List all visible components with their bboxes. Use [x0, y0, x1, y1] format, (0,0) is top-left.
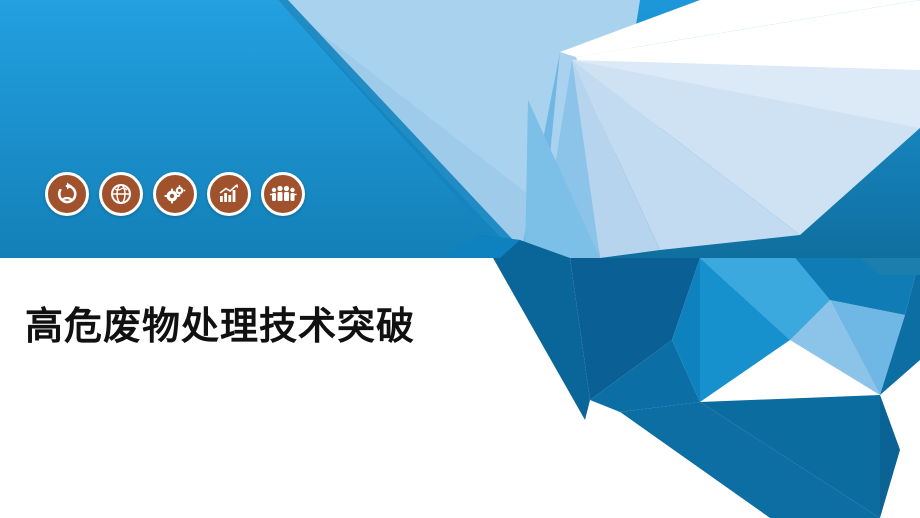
people-group-icon[interactable] [261, 172, 305, 216]
low-poly-background [0, 0, 920, 518]
globe-icon[interactable] [99, 172, 143, 216]
presentation-slide: 数智创新 变革未来 [0, 0, 920, 518]
page-title: 高危废物处理技术突破 [25, 295, 415, 350]
bar-chart-growth-icon[interactable] [207, 172, 251, 216]
recycle-arrow-icon[interactable] [45, 172, 89, 216]
slide-tagline: 数智创新 变革未来 [715, 27, 898, 57]
gears-icon[interactable] [153, 172, 197, 216]
icon-badge-row [45, 172, 305, 216]
